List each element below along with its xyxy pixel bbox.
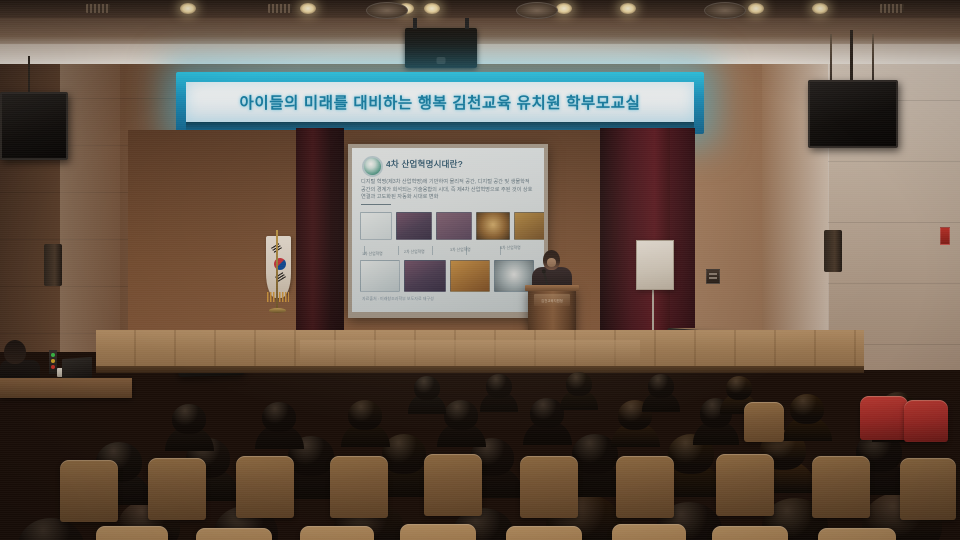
slide-timeline-label-2: 3차 산업혁명 bbox=[450, 248, 471, 253]
event-banner: 아이들의 미래를 대비하는 행복 김천교육 유치원 학부모교실 bbox=[186, 82, 694, 122]
slide-thumb-industry-diagram bbox=[360, 212, 392, 240]
slide-thumb-robot-arm bbox=[450, 260, 490, 292]
ceiling-speaker-2 bbox=[704, 2, 746, 19]
tv-right-cable-2 bbox=[872, 34, 874, 82]
av-control-panel[interactable] bbox=[706, 269, 720, 284]
flag-pole bbox=[276, 230, 278, 312]
audience-member-head bbox=[726, 376, 752, 400]
auditorium-seat[interactable] bbox=[300, 526, 374, 540]
podium-plate-text: 김천교육지원청 bbox=[541, 298, 563, 303]
audience-area bbox=[0, 330, 960, 540]
ceiling-speaker-0 bbox=[366, 2, 408, 19]
slide-thumb-gear-machinery bbox=[514, 212, 544, 240]
auditorium-seat[interactable] bbox=[330, 456, 388, 518]
audience-member-head bbox=[790, 394, 824, 424]
ceiling-downlight-4 bbox=[556, 3, 572, 14]
slide-timeline-label-0: 1차 산업혁명 bbox=[362, 252, 383, 257]
slide-thumbnail-row-bottom bbox=[360, 260, 534, 292]
auditorium-seat[interactable] bbox=[60, 460, 118, 522]
flag-base bbox=[269, 308, 286, 313]
auditorium-seat[interactable] bbox=[616, 456, 674, 518]
audience-member-head bbox=[648, 374, 674, 398]
fire-alarm-box bbox=[940, 227, 950, 245]
auditorium-seat[interactable] bbox=[818, 528, 896, 540]
auditorium-seat[interactable] bbox=[400, 524, 476, 540]
auditorium-seat[interactable] bbox=[900, 458, 956, 520]
presentation-slide: 4차 산업혁명시대란? 디지털 혁명(제3차 산업혁명)에 기반하여 물리적 공… bbox=[352, 148, 544, 312]
audience-member-head bbox=[348, 400, 382, 430]
ceiling-vent-0 bbox=[86, 4, 110, 13]
side-speaker-right bbox=[824, 230, 842, 272]
auditorium-seat[interactable] bbox=[612, 524, 686, 540]
whiteboard-flipchart bbox=[636, 240, 674, 290]
podium-top bbox=[525, 285, 579, 291]
auditorium-seat[interactable] bbox=[744, 402, 784, 442]
auditorium-seat[interactable] bbox=[424, 454, 482, 516]
ceiling-downlight-7 bbox=[812, 3, 828, 14]
auditorium-seat[interactable] bbox=[712, 526, 788, 540]
slide-thumb-factory-room bbox=[436, 212, 472, 240]
flag-fringe bbox=[267, 292, 289, 302]
stage-curtain-right bbox=[600, 128, 670, 343]
slide-underline bbox=[361, 204, 391, 205]
slide-timeline-label-1: 2차 산업혁명 bbox=[404, 250, 425, 255]
audience-member-head bbox=[530, 398, 564, 428]
slide-timeline-label-3: 4차 산업혁명 bbox=[500, 246, 521, 251]
south-korea-flag bbox=[262, 236, 294, 312]
pillar-left bbox=[60, 52, 120, 352]
ceiling-lip bbox=[0, 44, 960, 64]
presenter-face bbox=[547, 258, 556, 267]
auditorium-seat[interactable] bbox=[236, 456, 294, 518]
slide-thumbnail-row-top bbox=[360, 212, 544, 240]
ceiling-speaker-1 bbox=[516, 2, 558, 19]
ceiling-downlight-3 bbox=[424, 3, 440, 14]
side-speaker-left bbox=[44, 244, 62, 286]
auditorium-seat[interactable] bbox=[196, 528, 272, 540]
wall-mounted-monitor-right bbox=[808, 80, 898, 148]
auditorium-photo: 아이들의 미래를 대비하는 행복 김천교육 유치원 학부모교실 4차 산업혁명시… bbox=[0, 0, 960, 540]
ceiling-projector-icon bbox=[405, 28, 477, 68]
stage-curtain-left bbox=[296, 128, 344, 340]
ceiling-downlight-5 bbox=[620, 3, 636, 14]
auditorium-seat[interactable] bbox=[860, 396, 908, 440]
wall-mounted-monitor-left bbox=[0, 92, 68, 160]
auditorium-seat[interactable] bbox=[812, 456, 870, 518]
auditorium-seat[interactable] bbox=[904, 400, 948, 442]
ceiling-vent-2 bbox=[880, 4, 904, 13]
slide-thumb-chart-panel bbox=[360, 260, 400, 292]
slide-thumb-blue-text-panel bbox=[396, 212, 432, 240]
auditorium-seat[interactable] bbox=[96, 526, 168, 540]
slide-thumb-data-panel bbox=[404, 260, 446, 292]
ceiling-downlight-1 bbox=[300, 3, 316, 14]
slide-source-caption: 자료출처 : 미래창조과학부 보도자료 재구성 bbox=[362, 296, 434, 302]
ceiling-vent-1 bbox=[268, 4, 292, 13]
audience-member-head bbox=[566, 372, 592, 396]
slide-body-text: 디지털 혁명(제3차 산업혁명)에 기반하여 물리적 공간, 디지털 공간 및 … bbox=[361, 179, 535, 202]
tv-right-cable-1 bbox=[830, 34, 832, 82]
auditorium-seat[interactable] bbox=[716, 454, 774, 516]
banner-title: 아이들의 미래를 대비하는 행복 김천교육 유치원 학부모교실 bbox=[240, 91, 641, 113]
slide-title: 4차 산업혁명시대란? bbox=[386, 158, 463, 170]
audience-member-head bbox=[172, 404, 206, 434]
audience-member-head bbox=[414, 376, 440, 400]
projector-lens-icon bbox=[437, 57, 446, 64]
ceiling-downlight-6 bbox=[748, 3, 764, 14]
slide-thumb-globe-network bbox=[476, 212, 510, 240]
auditorium-seat[interactable] bbox=[506, 526, 582, 540]
ceiling-downlight-0 bbox=[180, 3, 196, 14]
audience-member-head bbox=[262, 402, 296, 432]
auditorium-seat[interactable] bbox=[520, 456, 578, 518]
tv-right-pole bbox=[850, 30, 853, 82]
podium-nameplate: 김천교육지원청 bbox=[534, 294, 570, 306]
audience-member-head bbox=[444, 400, 478, 430]
auditorium-seat[interactable] bbox=[148, 458, 206, 520]
tv-left-cable bbox=[28, 56, 30, 94]
organization-logo-icon bbox=[362, 156, 383, 177]
flipchart-leg bbox=[652, 288, 654, 332]
audience-member-head bbox=[486, 374, 512, 398]
